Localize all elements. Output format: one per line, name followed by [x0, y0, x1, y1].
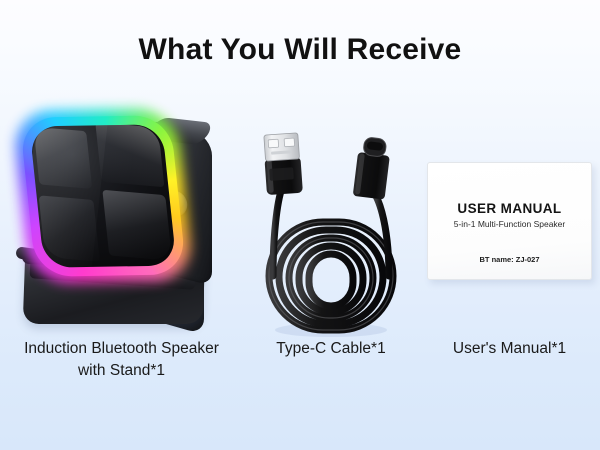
- usb-a-connector: [263, 133, 303, 195]
- manual-caption: User's Manual*1: [419, 338, 600, 360]
- speaker-glossy-face: [29, 124, 176, 268]
- cable-caption-line1: Type-C Cable*1: [243, 338, 419, 360]
- manual-bt-name: BT name: ZJ-027: [428, 255, 591, 264]
- cable-svg: [243, 126, 419, 340]
- manual-card: USER MANUAL 5-in-1 Multi-Function Speake…: [427, 162, 592, 280]
- item-cable: Type-C Cable*1: [243, 100, 419, 400]
- speaker-rgb-panel: [19, 115, 186, 277]
- speaker-caption-line1: Induction Bluetooth Speaker: [0, 338, 243, 360]
- product-contents-panel: What You Will Receive: [0, 0, 600, 450]
- manual-caption-line1: User's Manual*1: [419, 338, 600, 360]
- usb-c-connector: [353, 136, 392, 199]
- speaker-illustration: [0, 104, 243, 340]
- page-title: What You Will Receive: [0, 31, 600, 69]
- manual-illustration: USER MANUAL 5-in-1 Multi-Function Speake…: [427, 162, 592, 280]
- item-manual: USER MANUAL 5-in-1 Multi-Function Speake…: [419, 100, 600, 400]
- manual-title: USER MANUAL: [428, 201, 591, 216]
- cable-caption: Type-C Cable*1: [243, 338, 419, 360]
- item-speaker: Induction Bluetooth Speaker with Stand*1: [0, 100, 243, 400]
- manual-subtitle: 5-in-1 Multi-Function Speaker: [428, 219, 591, 229]
- cable-illustration: [243, 126, 419, 340]
- speaker-caption: Induction Bluetooth Speaker with Stand*1: [0, 338, 243, 382]
- face-reflection-quadrant: [102, 190, 172, 261]
- items-row: Induction Bluetooth Speaker with Stand*1: [0, 100, 600, 400]
- speaker-caption-line2: with Stand*1: [0, 360, 243, 382]
